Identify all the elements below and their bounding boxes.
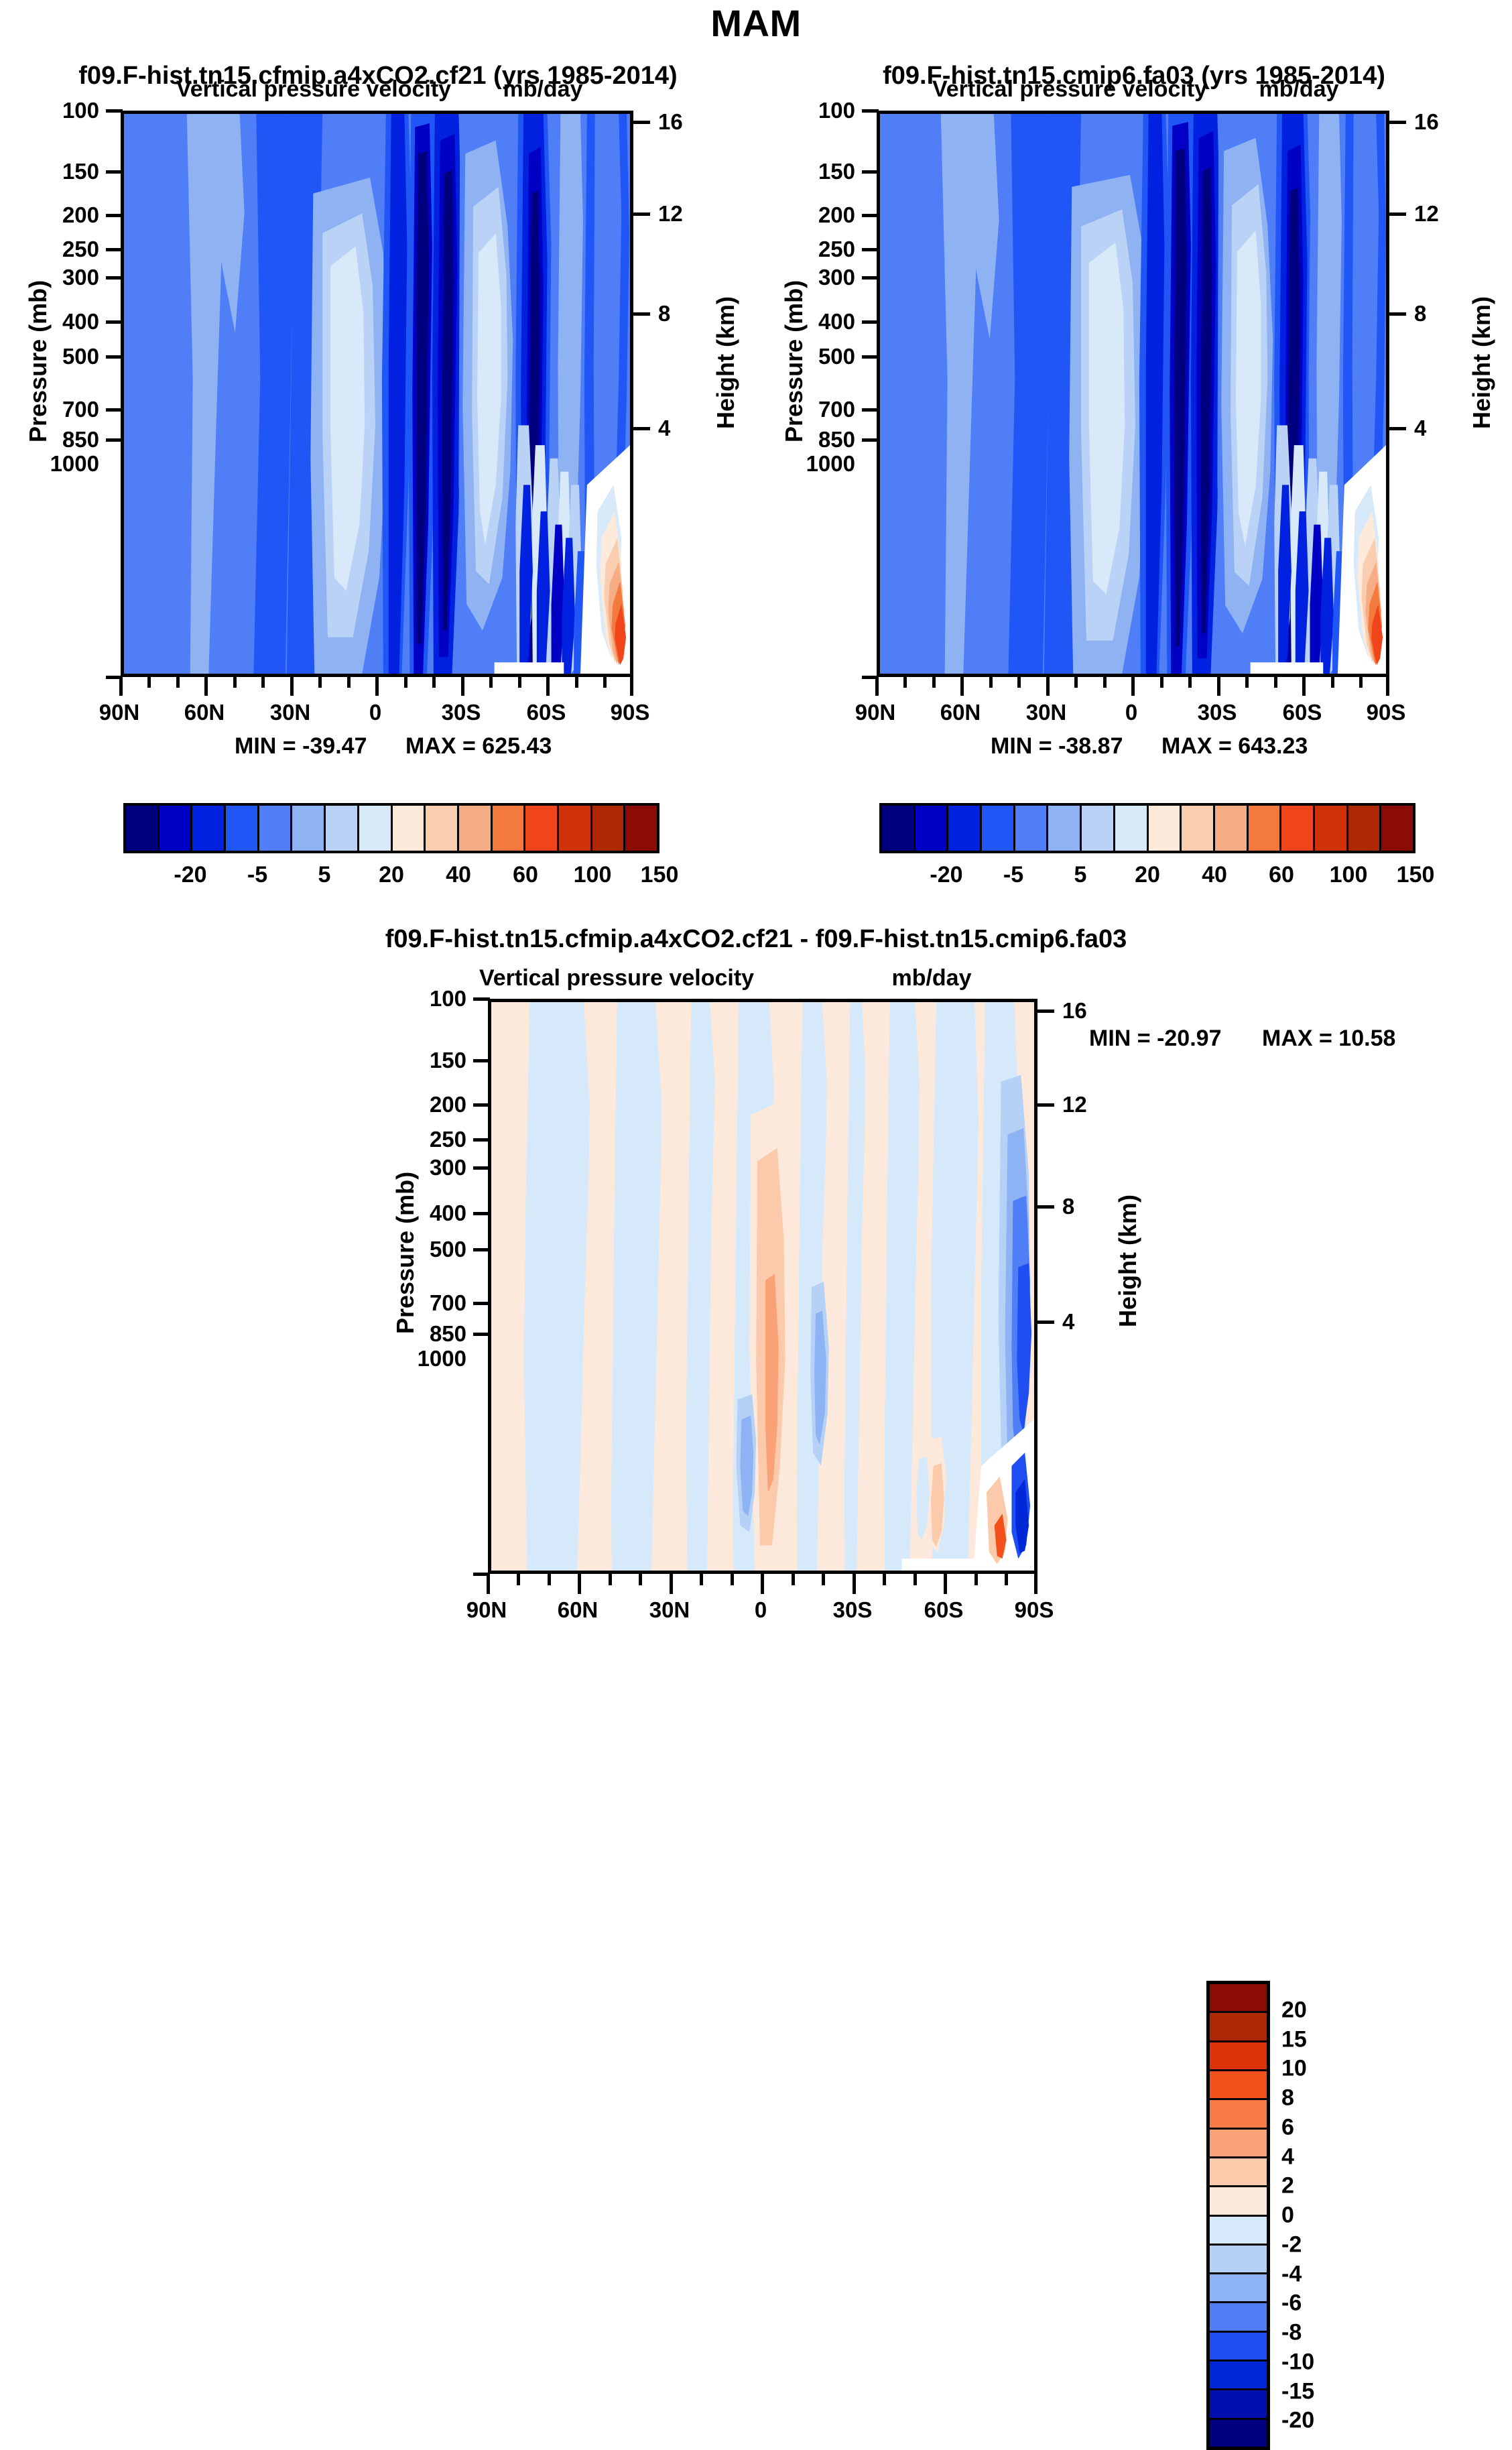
colorbar-tick-label: 100 [574, 862, 612, 888]
colorbar-tick-label: -15 [1281, 2378, 1314, 2404]
colorbar-cell [1048, 806, 1082, 851]
panel-b-htick-12: 12 [1414, 201, 1439, 227]
colorbar-cell [1210, 2130, 1267, 2158]
panel-diff-xtick-60N: 60N [544, 1597, 611, 1623]
panel-diff-xtick-30S: 30S [819, 1597, 886, 1623]
panel-diff-htick-16: 16 [1062, 998, 1087, 1024]
panel-a-ytick-150: 150 [25, 159, 99, 184]
colorbar-cell [1210, 2100, 1267, 2129]
panel-a-contour-field [124, 114, 630, 674]
panel-diff-contour-field [491, 1002, 1034, 1571]
panel-diff-max-label: MAX = 10.58 [1262, 1026, 1395, 1052]
colorbar-cell [1210, 2362, 1267, 2390]
panel-diff-htick-4: 4 [1062, 1309, 1074, 1335]
panel-b-colorbar-labels: -20-55204060100150 [879, 862, 1415, 889]
panel-b-xtick-60S: 60S [1269, 700, 1336, 725]
panel-a-colorbar-labels: -20-55204060100150 [123, 862, 659, 889]
panel-a-htick-4: 4 [658, 416, 670, 441]
panel-a-xtick-30S: 30S [428, 700, 495, 725]
panel-b-xtick-30S: 30S [1184, 700, 1251, 725]
panel-diff-xtick-0: 0 [727, 1597, 794, 1623]
panel-b-ytick-100: 100 [781, 98, 855, 123]
panel-b-ylabel-height: Height (km) [1468, 296, 1496, 429]
panel-a-max-label: MAX = 625.43 [405, 733, 552, 759]
panel-a-ytick-200: 200 [25, 202, 99, 228]
panel-diff-ytick-1000: 1000 [381, 1346, 466, 1371]
panel-b-xtick-90N: 90N [842, 700, 909, 725]
colorbar-cell [1210, 1984, 1267, 2013]
panel-a-ytick-100: 100 [25, 98, 99, 123]
colorbar-tick-label: 6 [1281, 2114, 1294, 2140]
panel-diff-variable-label: Vertical pressure velocity [422, 965, 811, 991]
colorbar-cell [1210, 2042, 1267, 2071]
colorbar-tick-label: 150 [1397, 862, 1435, 888]
panel-diff-units-label: mb/day [858, 965, 1005, 991]
colorbar-tick-label: 15 [1281, 2026, 1307, 2053]
panel-diff-ylabel-height: Height (km) [1114, 1195, 1142, 1327]
colorbar-tick-label: -20 [174, 862, 206, 888]
colorbar-tick-label: -8 [1281, 2320, 1302, 2346]
colorbar-cell [1215, 806, 1249, 851]
colorbar-cell [1249, 806, 1282, 851]
colorbar-cell [1348, 806, 1382, 851]
panel-a-ylabel-height: Height (km) [712, 296, 740, 429]
panel-diff-plot-area [488, 999, 1037, 1574]
colorbar-cell [192, 806, 226, 851]
colorbar-cell [916, 806, 949, 851]
colorbar-tick-label: 0 [1281, 2203, 1294, 2229]
colorbar-cell [1281, 806, 1315, 851]
colorbar-tick-label: 60 [513, 862, 538, 888]
colorbar-cell [948, 806, 982, 851]
colorbar-cell [1210, 2303, 1267, 2332]
panel-a-ylabel-pressure: Pressure (mb) [24, 280, 52, 442]
colorbar-cell [1210, 2071, 1267, 2100]
panel-b-min-label: MIN = -38.87 [991, 733, 1123, 759]
panel-a-plot-area [121, 111, 633, 677]
panel-diff-ytick-100: 100 [393, 986, 466, 1012]
colorbar-cell [1082, 806, 1115, 851]
colorbar-cell [1115, 806, 1149, 851]
panel-diff-xtick-90S: 90S [1001, 1597, 1068, 1623]
panel-diff-xtick-90N: 90N [453, 1597, 520, 1623]
panel-a-colorbar [123, 803, 659, 853]
colorbar-cell [126, 806, 160, 851]
panel-diff-xtick-30N: 30N [636, 1597, 703, 1623]
panel-a-xtick-30N: 30N [257, 700, 324, 725]
panel-b-plot-area [877, 111, 1389, 677]
panel-a-xtick-0: 0 [342, 700, 409, 725]
panel-diff-htick-8: 8 [1062, 1194, 1074, 1219]
colorbar-tick-label: 40 [446, 862, 471, 888]
panel-difference: f09.F-hist.tn15.cfmip.a4xCO2.cf21 - f09.… [0, 892, 1512, 1597]
panel-b-xtick-30N: 30N [1013, 700, 1080, 725]
panel-a-min-label: MIN = -39.47 [235, 733, 367, 759]
panel-diff-colorbar-labels: 20151086420-2-4-6-8-10-15-20 [1281, 1981, 1375, 2450]
colorbar-cell [226, 806, 259, 851]
colorbar-cell [160, 806, 193, 851]
colorbar-cell [1210, 2390, 1267, 2419]
colorbar-cell [1210, 2217, 1267, 2246]
colorbar-tick-label: -2 [1281, 2231, 1302, 2258]
colorbar-cell [426, 806, 459, 851]
panel-a-htick-16: 16 [658, 109, 683, 135]
panel-b-ytick-1000: 1000 [769, 451, 855, 477]
colorbar-cell [982, 806, 1015, 851]
panel-case-a: f09.F-hist.tn15.cfmip.a4xCO2.cf21 (yrs 1… [0, 0, 756, 892]
colorbar-tick-label: 100 [1330, 862, 1368, 888]
colorbar-cell [592, 806, 626, 851]
panel-b-htick-8: 8 [1414, 301, 1426, 326]
colorbar-cell [493, 806, 526, 851]
colorbar-cell [259, 806, 293, 851]
colorbar-cell [1015, 806, 1049, 851]
panel-a-xtick-60N: 60N [171, 700, 238, 725]
panel-b-contour-field [880, 114, 1386, 674]
panel-diff-xtick-60S: 60S [910, 1597, 977, 1623]
colorbar-cell [326, 806, 359, 851]
colorbar-tick-label: 20 [1135, 862, 1160, 888]
panel-a-variable-label: Vertical pressure velocity [119, 76, 508, 103]
panel-b-xtick-0: 0 [1098, 700, 1165, 725]
colorbar-cell [1210, 2187, 1267, 2216]
panel-b-xtick-90S: 90S [1352, 700, 1420, 725]
panel-b-ytick-150: 150 [781, 159, 855, 184]
panel-case-b: f09.F-hist.tn15.cmip6.fa03 (yrs 1985-201… [756, 0, 1512, 892]
colorbar-cell [525, 806, 559, 851]
panel-diff-htick-12: 12 [1062, 1092, 1087, 1117]
colorbar-cell [393, 806, 426, 851]
panel-diff-ylabel-pressure: Pressure (mb) [391, 1172, 420, 1334]
colorbar-tick-label: 20 [1281, 1997, 1307, 2023]
colorbar-tick-label: 5 [1074, 862, 1087, 888]
panel-diff-colorbar [1206, 1981, 1270, 2450]
panel-a-units-label: mb/day [469, 76, 617, 103]
colorbar-cell [1182, 806, 1215, 851]
colorbar-tick-label: 10 [1281, 2056, 1307, 2082]
colorbar-tick-label: 150 [641, 862, 679, 888]
colorbar-cell [559, 806, 592, 851]
panel-b-units-label: mb/day [1225, 76, 1373, 103]
panel-b-ylabel-pressure: Pressure (mb) [780, 280, 808, 442]
panel-a-ytick-1000: 1000 [13, 451, 99, 477]
panel-a-xtick-90S: 90S [596, 700, 664, 725]
colorbar-tick-label: 2 [1281, 2173, 1294, 2199]
colorbar-tick-label: -10 [1281, 2349, 1314, 2375]
panel-diff-ytick-250: 250 [393, 1127, 466, 1152]
colorbar-cell [1210, 2274, 1267, 2303]
panel-b-max-label: MAX = 643.23 [1161, 733, 1308, 759]
colorbar-cell [882, 806, 916, 851]
colorbar-cell [1210, 2158, 1267, 2187]
colorbar-tick-label: -20 [930, 862, 962, 888]
colorbar-tick-label: 4 [1281, 2144, 1294, 2170]
colorbar-tick-label: 8 [1281, 2085, 1294, 2111]
colorbar-cell [625, 806, 657, 851]
panel-diff-title: f09.F-hist.tn15.cfmip.a4xCO2.cf21 - f09.… [0, 925, 1512, 954]
panel-b-variable-label: Vertical pressure velocity [875, 76, 1264, 103]
panel-b-xtick-60N: 60N [927, 700, 994, 725]
panel-a-xtick-60S: 60S [513, 700, 580, 725]
panel-a-ytick-250: 250 [25, 237, 99, 262]
panel-b-htick-16: 16 [1414, 109, 1439, 135]
colorbar-tick-label: -5 [1003, 862, 1023, 888]
panel-b-ytick-250: 250 [781, 237, 855, 262]
colorbar-cell [1149, 806, 1182, 851]
colorbar-tick-label: -4 [1281, 2261, 1302, 2287]
panel-b-colorbar [879, 803, 1415, 853]
colorbar-cell [292, 806, 326, 851]
colorbar-cell [359, 806, 393, 851]
panel-b-htick-4: 4 [1414, 416, 1426, 441]
colorbar-tick-label: -20 [1281, 2408, 1314, 2434]
colorbar-cell [1210, 2333, 1267, 2362]
colorbar-tick-label: -5 [247, 862, 267, 888]
panel-diff-ytick-200: 200 [393, 1092, 466, 1117]
panel-b-ytick-200: 200 [781, 202, 855, 228]
panel-a-htick-12: 12 [658, 201, 683, 227]
panel-a-xtick-90N: 90N [86, 700, 153, 725]
colorbar-tick-label: 20 [379, 862, 404, 888]
panel-diff-ytick-150: 150 [393, 1048, 466, 1073]
colorbar-cell [459, 806, 493, 851]
colorbar-tick-label: 5 [318, 862, 331, 888]
colorbar-cell [1315, 806, 1348, 851]
panel-a-htick-8: 8 [658, 301, 670, 326]
colorbar-cell [1210, 2420, 1267, 2447]
colorbar-cell [1381, 806, 1413, 851]
panel-diff-min-label: MIN = -20.97 [1089, 1026, 1221, 1052]
colorbar-tick-label: -6 [1281, 2290, 1302, 2317]
colorbar-tick-label: 60 [1269, 862, 1294, 888]
colorbar-tick-label: 40 [1202, 862, 1227, 888]
colorbar-cell [1210, 2013, 1267, 2042]
colorbar-cell [1210, 2246, 1267, 2274]
